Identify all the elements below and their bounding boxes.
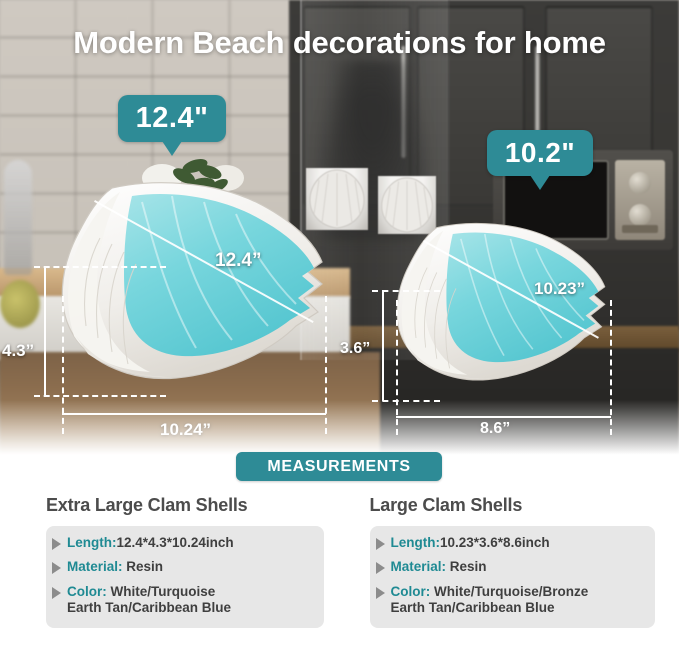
- spec-panel: Length:10.23*3.6*8.6inch Material: Resin…: [370, 526, 656, 628]
- triangle-right-icon: [376, 587, 385, 599]
- spec-value: Resin: [446, 559, 487, 574]
- spec-key: Length:: [67, 535, 117, 550]
- large-clam-shell: [384, 216, 624, 392]
- spec-text: Material: Resin: [67, 559, 163, 575]
- product-title: Extra Large Clam Shells: [46, 495, 324, 516]
- spec-key: Color:: [391, 584, 431, 599]
- product-title: Large Clam Shells: [370, 495, 656, 516]
- spec-row: Color: White/Turquoise/Bronze Earth Tan/…: [376, 584, 650, 617]
- extra-large-clam-shell: [46, 176, 346, 391]
- triangle-right-icon: [376, 538, 385, 550]
- spec-panel: Length:12.4*4.3*10.24inch Material: Resi…: [46, 526, 324, 628]
- small-shell-callout: 10.2": [487, 130, 593, 176]
- spec-value: 12.4*4.3*10.24inch: [117, 535, 234, 550]
- page-title: Modern Beach decorations for home: [0, 25, 679, 61]
- triangle-right-icon: [52, 562, 61, 574]
- spec-text: Length:10.23*3.6*8.6inch: [391, 535, 550, 551]
- left-height-line: [44, 266, 46, 396]
- spec-text: Color: White/Turquoise/Bronze Earth Tan/…: [391, 584, 589, 617]
- spec-text: Color: White/Turquoise Earth Tan/Caribbe…: [67, 584, 231, 617]
- large-shell-callout: 12.4": [118, 95, 226, 142]
- specifications-section: Extra Large Clam Shells Length:12.4*4.3*…: [0, 495, 679, 654]
- left-height-tick-top: [34, 266, 166, 268]
- right-shell-height-label: 3.6”: [340, 340, 370, 358]
- spec-value: Resin: [123, 559, 164, 574]
- spec-text: Material: Resin: [391, 559, 487, 575]
- left-height-tick-bottom: [34, 395, 166, 397]
- spec-row: Material: Resin: [376, 559, 650, 575]
- spec-text: Length:12.4*4.3*10.24inch: [67, 535, 234, 551]
- product-column-large: Large Clam Shells Length:10.23*3.6*8.6in…: [340, 495, 679, 654]
- spec-row: Length:12.4*4.3*10.24inch: [52, 535, 318, 551]
- left-shell-height-label: 4.3”: [2, 341, 34, 361]
- spec-row: Color: White/Turquoise Earth Tan/Caribbe…: [52, 584, 318, 617]
- spec-row: Length:10.23*3.6*8.6inch: [376, 535, 650, 551]
- spec-value-line2: Earth Tan/Caribbean Blue: [391, 600, 589, 616]
- spec-key: Color:: [67, 584, 107, 599]
- spec-value: White/Turquoise/Bronze: [430, 584, 588, 599]
- spec-key: Length:: [391, 535, 441, 550]
- spec-row: Material: Resin: [52, 559, 318, 575]
- triangle-right-icon: [52, 538, 61, 550]
- left-shell-diagonal-label: 12.4”: [215, 250, 261, 272]
- microwave-knob: [629, 172, 651, 194]
- spec-value: White/Turquoise: [107, 584, 216, 599]
- spec-key: Material:: [67, 559, 123, 574]
- triangle-right-icon: [376, 562, 385, 574]
- spec-key: Material:: [391, 559, 447, 574]
- triangle-right-icon: [52, 587, 61, 599]
- measurements-badge: MEASUREMENTS: [236, 452, 442, 481]
- spec-value: 10.23*3.6*8.6inch: [440, 535, 550, 550]
- right-height-line: [382, 290, 384, 401]
- microwave-knob: [629, 204, 651, 226]
- microwave-display: [622, 225, 658, 233]
- faucet: [4, 160, 32, 275]
- spec-value-line2: Earth Tan/Caribbean Blue: [67, 600, 231, 616]
- product-column-extra-large: Extra Large Clam Shells Length:12.4*4.3*…: [0, 495, 340, 654]
- fruit-bowl: [0, 280, 40, 328]
- product-photo: 12.4” 4.3” 10.24” 10.23” 3.6” 8.6”: [0, 0, 679, 470]
- right-shell-diagonal-label: 10.23”: [534, 279, 585, 299]
